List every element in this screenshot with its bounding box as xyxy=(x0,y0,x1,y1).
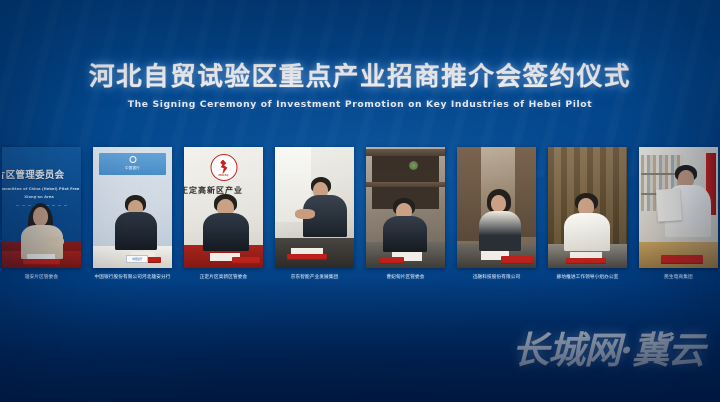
photo-2-banner-text: 中国银行 xyxy=(93,165,172,170)
photo-captions: 雄安片区管委会 中国银行股份有限公司河北雄安分行 正定片区高新区管委会 京东智能… xyxy=(0,274,720,288)
photo-caption-1: 雄安片区管委会 xyxy=(2,274,81,288)
photo-thumbnail-7[interactable] xyxy=(548,147,627,268)
photo-1-person-head xyxy=(33,207,48,226)
photo-1-backdrop-en-line2: Xiong'an Area xyxy=(2,195,80,199)
photo-thumbnail-6[interactable] xyxy=(457,147,536,268)
photo-1-arm xyxy=(46,237,64,246)
photo-2-person-body xyxy=(115,212,157,250)
photo-caption-4: 京东智能产业发展集团 xyxy=(275,274,354,288)
photo-8-folder xyxy=(661,255,703,264)
photo-caption-3: 正定片区高新区管委会 xyxy=(184,274,263,288)
photo-thumbnail-5[interactable] xyxy=(366,147,445,268)
title-block: 河北自贸试验区重点产业招商推介会签约仪式 The Signing Ceremon… xyxy=(0,56,720,110)
photo-5-shelf-back xyxy=(372,156,438,182)
photo-1-backdrop-en-line1: Committee of China (Hebei) Pilot Free xyxy=(2,187,80,191)
photo-3-emblem-mark xyxy=(218,159,229,174)
photo-caption-7: 廊坊推进工作领导小组办公室 xyxy=(548,274,627,288)
photo-thumbnail-8[interactable] xyxy=(639,147,718,268)
broadcast-stage: 河北自贸试验区重点产业招商推介会签约仪式 The Signing Ceremon… xyxy=(0,0,720,402)
photo-caption-5: 曹妃甸片区管委会 xyxy=(366,274,445,288)
photo-2-nameplate: 中国银行 xyxy=(126,255,148,263)
photo-4-arm xyxy=(295,209,315,219)
photo-3-folder xyxy=(232,257,260,264)
photo-5-person-body xyxy=(383,216,427,252)
photo-cell-1[interactable]: 片区管理委员会 Committee of China (Hebei) Pilot… xyxy=(2,147,81,268)
page-subtitle: The Signing Ceremony of Investment Promo… xyxy=(0,99,720,110)
photo-cell-2[interactable]: 中国银行 中国银行 xyxy=(93,147,172,268)
photo-8-held-paper xyxy=(656,188,682,222)
channel-watermark: 长城网·冀云 xyxy=(512,320,704,374)
photo-thumbnail-3[interactable]: ZDGXQ 正定高新区产业 xyxy=(184,147,263,268)
photo-6-person-body xyxy=(479,211,521,251)
photo-1-backdrop-cn: 片区管理委员会 xyxy=(2,167,77,181)
photo-cell-3[interactable]: ZDGXQ 正定高新区产业 xyxy=(184,147,263,268)
photo-3-person-body xyxy=(203,213,249,251)
photo-1-folder xyxy=(23,259,60,265)
photo-5-plant-icon xyxy=(409,161,418,170)
photo-strip: 片区管理委员会 Committee of China (Hebei) Pilot… xyxy=(0,147,720,268)
photo-caption-6: 迅融科技股份有限公司 xyxy=(457,274,536,288)
photo-cell-6[interactable] xyxy=(457,147,536,268)
photo-6-folder xyxy=(501,256,533,264)
photo-thumbnail-1[interactable]: 片区管理委员会 Committee of China (Hebei) Pilot… xyxy=(2,147,81,268)
photo-2-bank-logo-icon xyxy=(129,156,136,163)
page-title: 河北自贸试验区重点产业招商推介会签约仪式 xyxy=(0,56,720,93)
photo-4-folder xyxy=(287,254,327,260)
photo-cell-4[interactable] xyxy=(275,147,354,268)
photo-caption-8: 民生电商集团 xyxy=(639,274,718,288)
photo-3-emblem-icon: ZDGXQ xyxy=(210,154,237,181)
photo-thumbnail-2[interactable]: 中国银行 中国银行 xyxy=(93,147,172,268)
photo-7-folder xyxy=(566,258,606,264)
photo-6-person-head xyxy=(491,195,506,212)
photo-cell-7[interactable] xyxy=(548,147,627,268)
photo-5-shelf-top xyxy=(366,149,445,156)
photo-caption-2: 中国银行股份有限公司河北雄安分行 xyxy=(93,274,172,288)
photo-6-cabinet-left xyxy=(457,147,481,241)
photo-cell-5[interactable] xyxy=(366,147,445,268)
photo-thumbnail-4[interactable] xyxy=(275,147,354,268)
photo-3-emblem-text: ZDGXQ xyxy=(211,174,236,177)
photo-cell-8[interactable] xyxy=(639,147,718,268)
photo-5-folder xyxy=(380,257,404,264)
photo-7-person-body xyxy=(564,213,610,251)
